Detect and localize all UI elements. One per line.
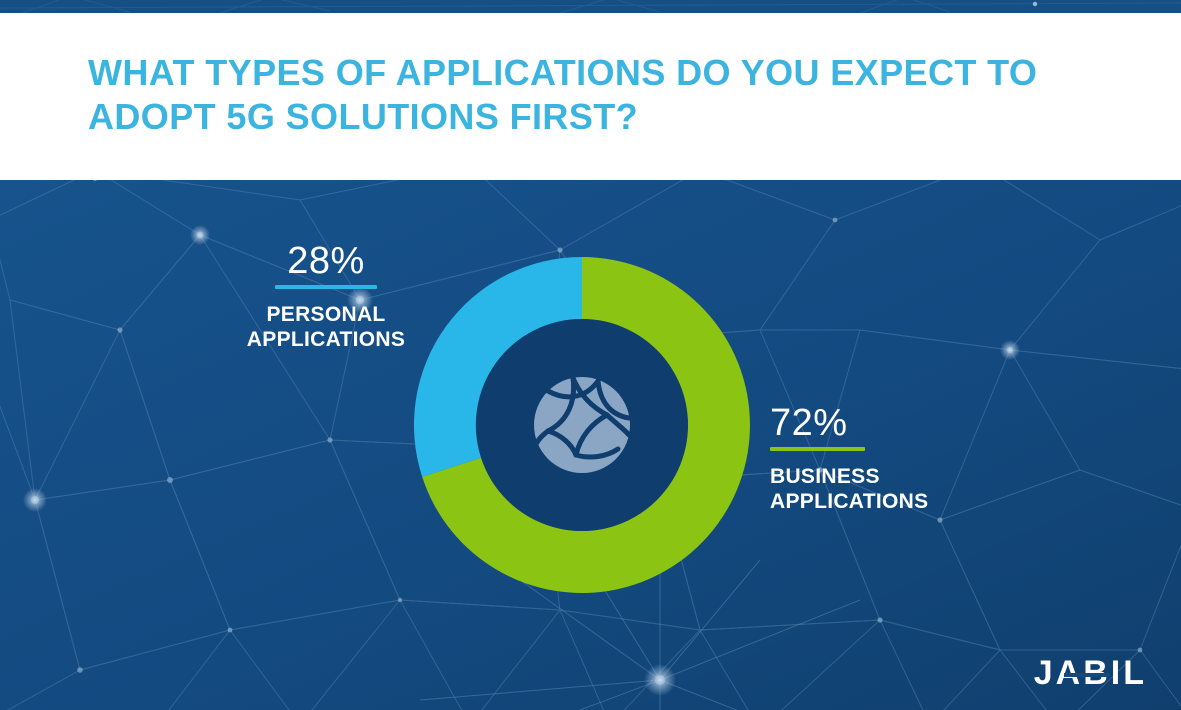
infographic-root: WHAT TYPES OF APPLICATIONS DO YOU EXPECT… — [0, 0, 1181, 710]
stat-personal-label: PERSONAL APPLICATIONS — [236, 302, 416, 352]
page-title: WHAT TYPES OF APPLICATIONS DO YOU EXPECT… — [88, 51, 1048, 139]
jabil-logo: JABIL — [1034, 656, 1147, 690]
stat-business-applications: 72% BUSINESS APPLICATIONS — [770, 402, 970, 514]
stat-business-underline — [770, 447, 865, 451]
stat-personal-percent: 28% — [236, 240, 416, 282]
top-strip-pattern — [0, 0, 1181, 13]
header-band: WHAT TYPES OF APPLICATIONS DO YOU EXPECT… — [0, 13, 1181, 180]
globe-network-icon — [534, 377, 630, 473]
node-dot — [1033, 2, 1037, 6]
stat-personal-applications: 28% PERSONAL APPLICATIONS — [236, 240, 416, 352]
stat-business-percent: 72% — [770, 402, 970, 444]
stat-business-label: BUSINESS APPLICATIONS — [770, 464, 970, 514]
chart-panel: 28% PERSONAL APPLICATIONS 72% BUSINESS A… — [0, 180, 1181, 710]
jabil-logo-crossbar — [1064, 673, 1110, 677]
donut-chart-svg — [398, 225, 766, 625]
donut-chart — [398, 225, 766, 625]
top-accent-strip — [0, 0, 1181, 13]
stat-personal-underline — [275, 285, 377, 289]
